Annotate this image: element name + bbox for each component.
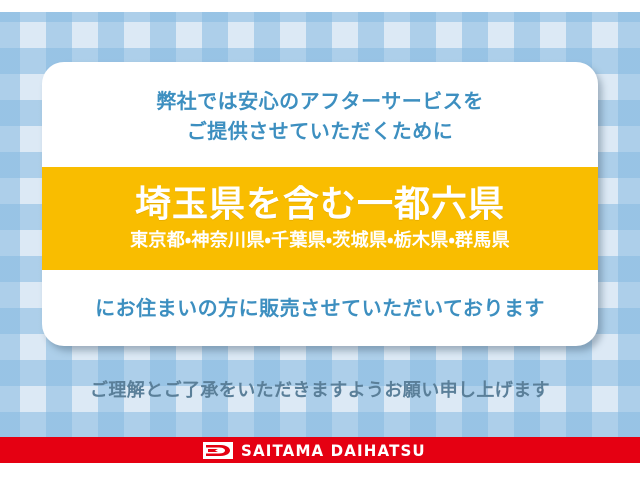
brand-name: SAITAMA DAIHATSU: [241, 441, 426, 460]
region-banner: 埼玉県を含む一都六県 東京都・神奈川県・千葉県・茨城県・栃木県・群馬県: [42, 167, 598, 270]
notice-closing-block: にお住まいの方に販売させていただいております: [42, 270, 598, 346]
notice-intro-block: 弊社では安心のアフターサービスを ご提供させていただくために: [42, 62, 598, 167]
notice-banner-image: 弊社では安心のアフターサービスを ご提供させていただくために 埼玉県を含む一都六…: [0, 0, 640, 480]
notice-card: 弊社では安心のアフターサービスを ご提供させていただくために 埼玉県を含む一都六…: [42, 62, 598, 346]
region-list: 東京都・神奈川県・千葉県・茨城県・栃木県・群馬県: [130, 228, 510, 254]
daihatsu-d-logo-icon: [203, 442, 233, 459]
region-headline: 埼玉県を含む一都六県: [135, 183, 505, 227]
intro-line-2: ご提供させていただくために: [187, 116, 454, 146]
brand-lockup: SAITAMA DAIHATSU: [203, 441, 438, 460]
bottom-white-strip: [0, 463, 640, 480]
top-white-strip: [0, 0, 640, 12]
closing-line: にお住まいの方に販売させていただいております: [95, 293, 545, 323]
brand-bar: SAITAMA DAIHATSU: [0, 437, 640, 463]
intro-line-1: 弊社では安心のアフターサービスを: [156, 86, 484, 116]
notice-footnote: ご理解とご了承をいただきますようお願い申し上げます: [0, 376, 640, 402]
